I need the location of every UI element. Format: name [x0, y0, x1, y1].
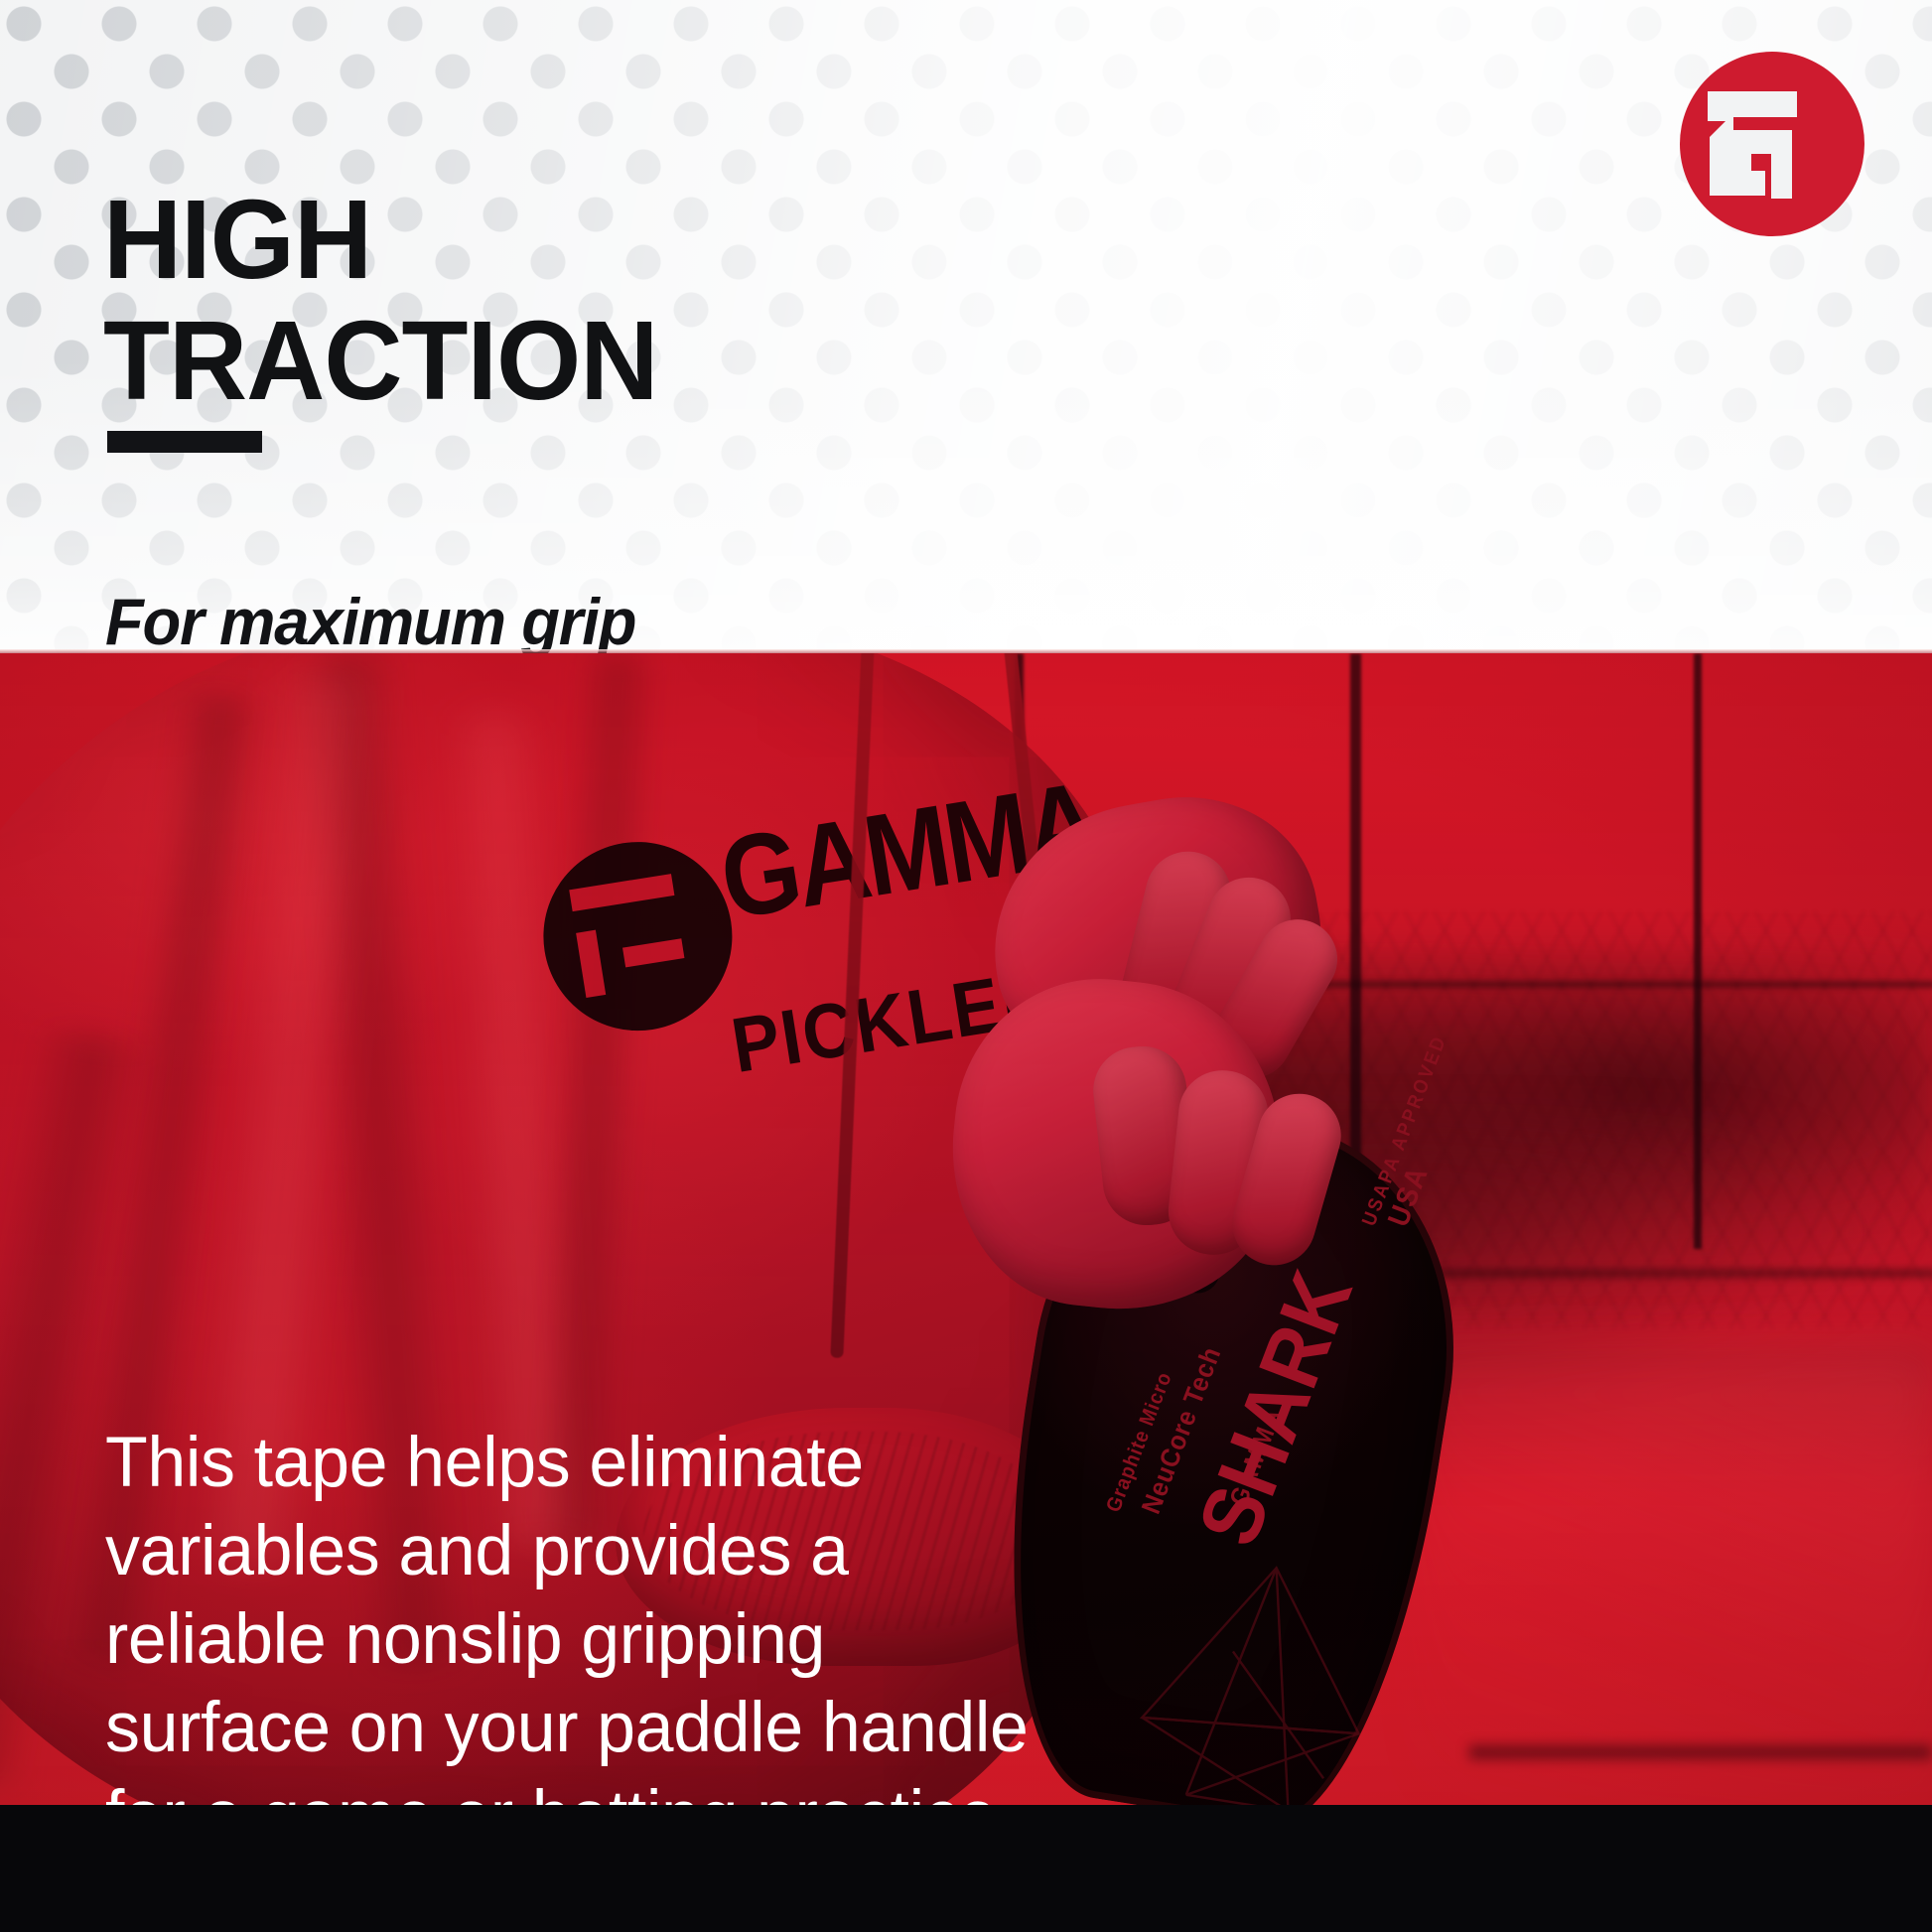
gamma-g-circle-logo-icon — [1680, 52, 1864, 236]
header-panel: HIGH TRACTION For maximum grip — [0, 0, 1932, 653]
photo-court-line — [1469, 1745, 1932, 1759]
product-photo: GAMMA PICKLEBALL GAMMA SHARK NeuCore — [0, 653, 1932, 1805]
body-paragraph: This tape helps eliminate variables and … — [105, 1419, 1200, 1805]
photo-fence-post — [1694, 653, 1702, 1249]
photo-court-highlight — [1420, 1348, 1932, 1805]
subtitle: For maximum grip — [105, 586, 635, 653]
footer-bar — [0, 1805, 1932, 1932]
marketing-card: HIGH TRACTION For maximum grip — [0, 0, 1932, 1932]
title-divider-rule — [107, 431, 262, 453]
hoodie-gamma-g-logo-icon — [530, 828, 746, 1043]
page-title: HIGH TRACTION — [103, 179, 657, 421]
photo-fence-post — [1350, 653, 1361, 1209]
